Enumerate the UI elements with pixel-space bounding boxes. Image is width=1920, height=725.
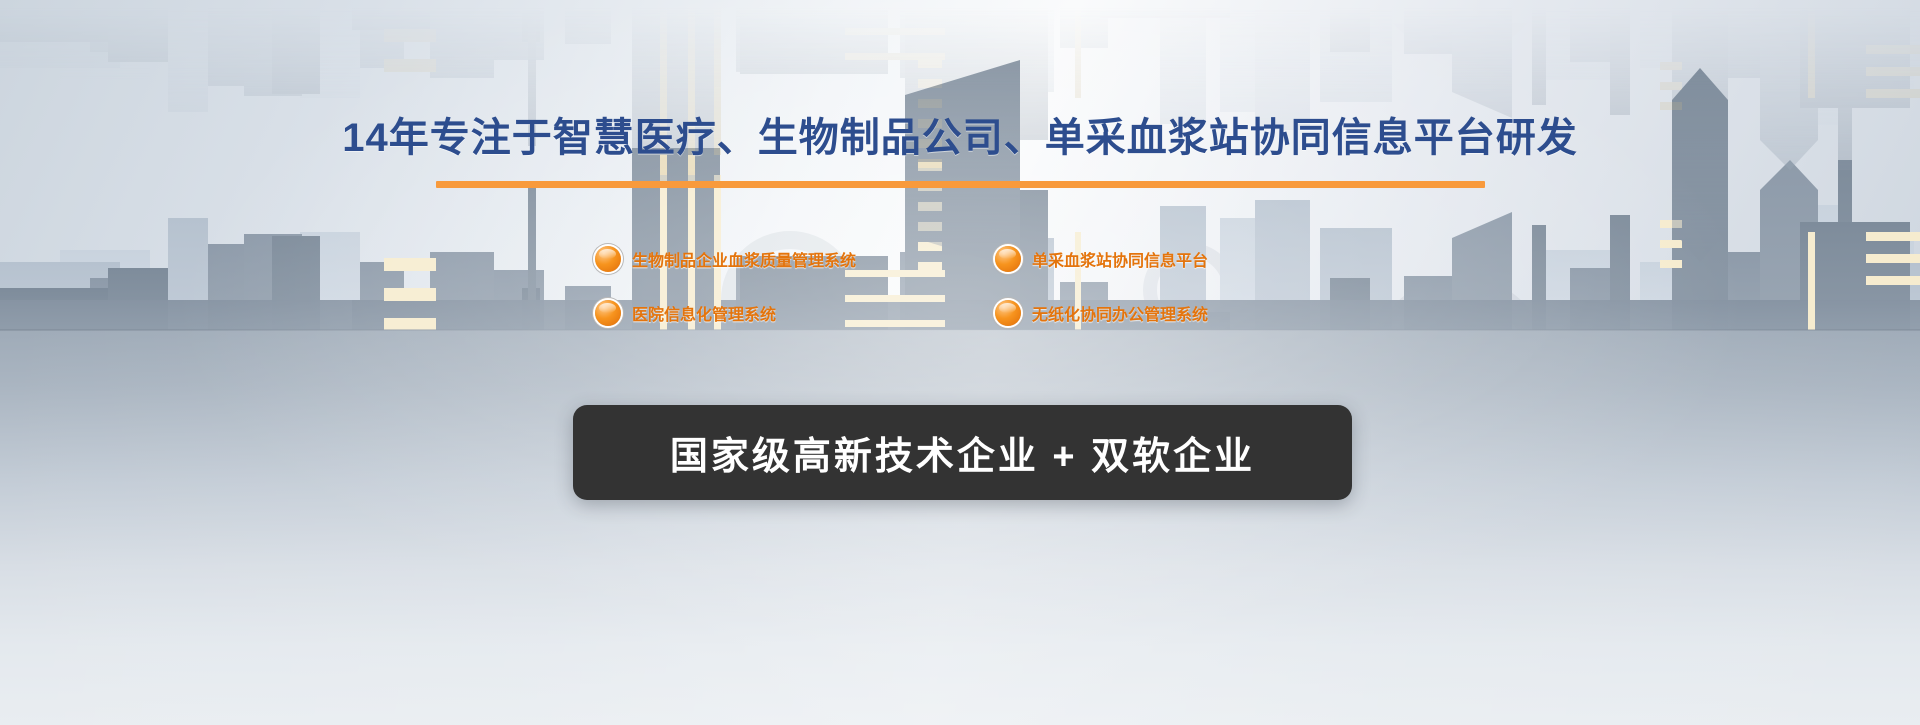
feature-item[interactable]: 单采血浆站协同信息平台 [995,232,1355,286]
feature-item[interactable]: 无纸化协同办公管理系统 [995,286,1355,340]
feature-item[interactable]: 医院信息化管理系统 [595,286,995,340]
slogan-text: 国家级高新技术企业 + 双软企业 [670,425,1255,480]
feature-bullet-list: 生物制品企业血浆质量管理系统 单采血浆站协同信息平台 医院信息化管理系统 无纸化… [595,232,1355,340]
orange-bullet-icon [995,300,1021,326]
orange-bullet-icon [995,246,1021,272]
feature-item-label: 医院信息化管理系统 [632,301,776,325]
feature-item-label: 单采血浆站协同信息平台 [1032,247,1208,271]
headline-underline-rule [436,181,1485,188]
hero-banner: 14年专注于智慧医疗、生物制品公司、单采血浆站协同信息平台研发 生物制品企业血浆… [0,0,1920,725]
slogan-badge: 国家级高新技术企业 + 双软企业 [573,405,1352,500]
feature-item[interactable]: 生物制品企业血浆质量管理系统 [595,232,995,286]
feature-item-label: 生物制品企业血浆质量管理系统 [632,247,856,271]
feature-item-label: 无纸化协同办公管理系统 [1032,301,1208,325]
banner-content: 14年专注于智慧医疗、生物制品公司、单采血浆站协同信息平台研发 生物制品企业血浆… [0,0,1920,725]
orange-bullet-icon [595,246,621,272]
banner-headline: 14年专注于智慧医疗、生物制品公司、单采血浆站协同信息平台研发 [0,105,1920,163]
orange-bullet-icon [595,300,621,326]
